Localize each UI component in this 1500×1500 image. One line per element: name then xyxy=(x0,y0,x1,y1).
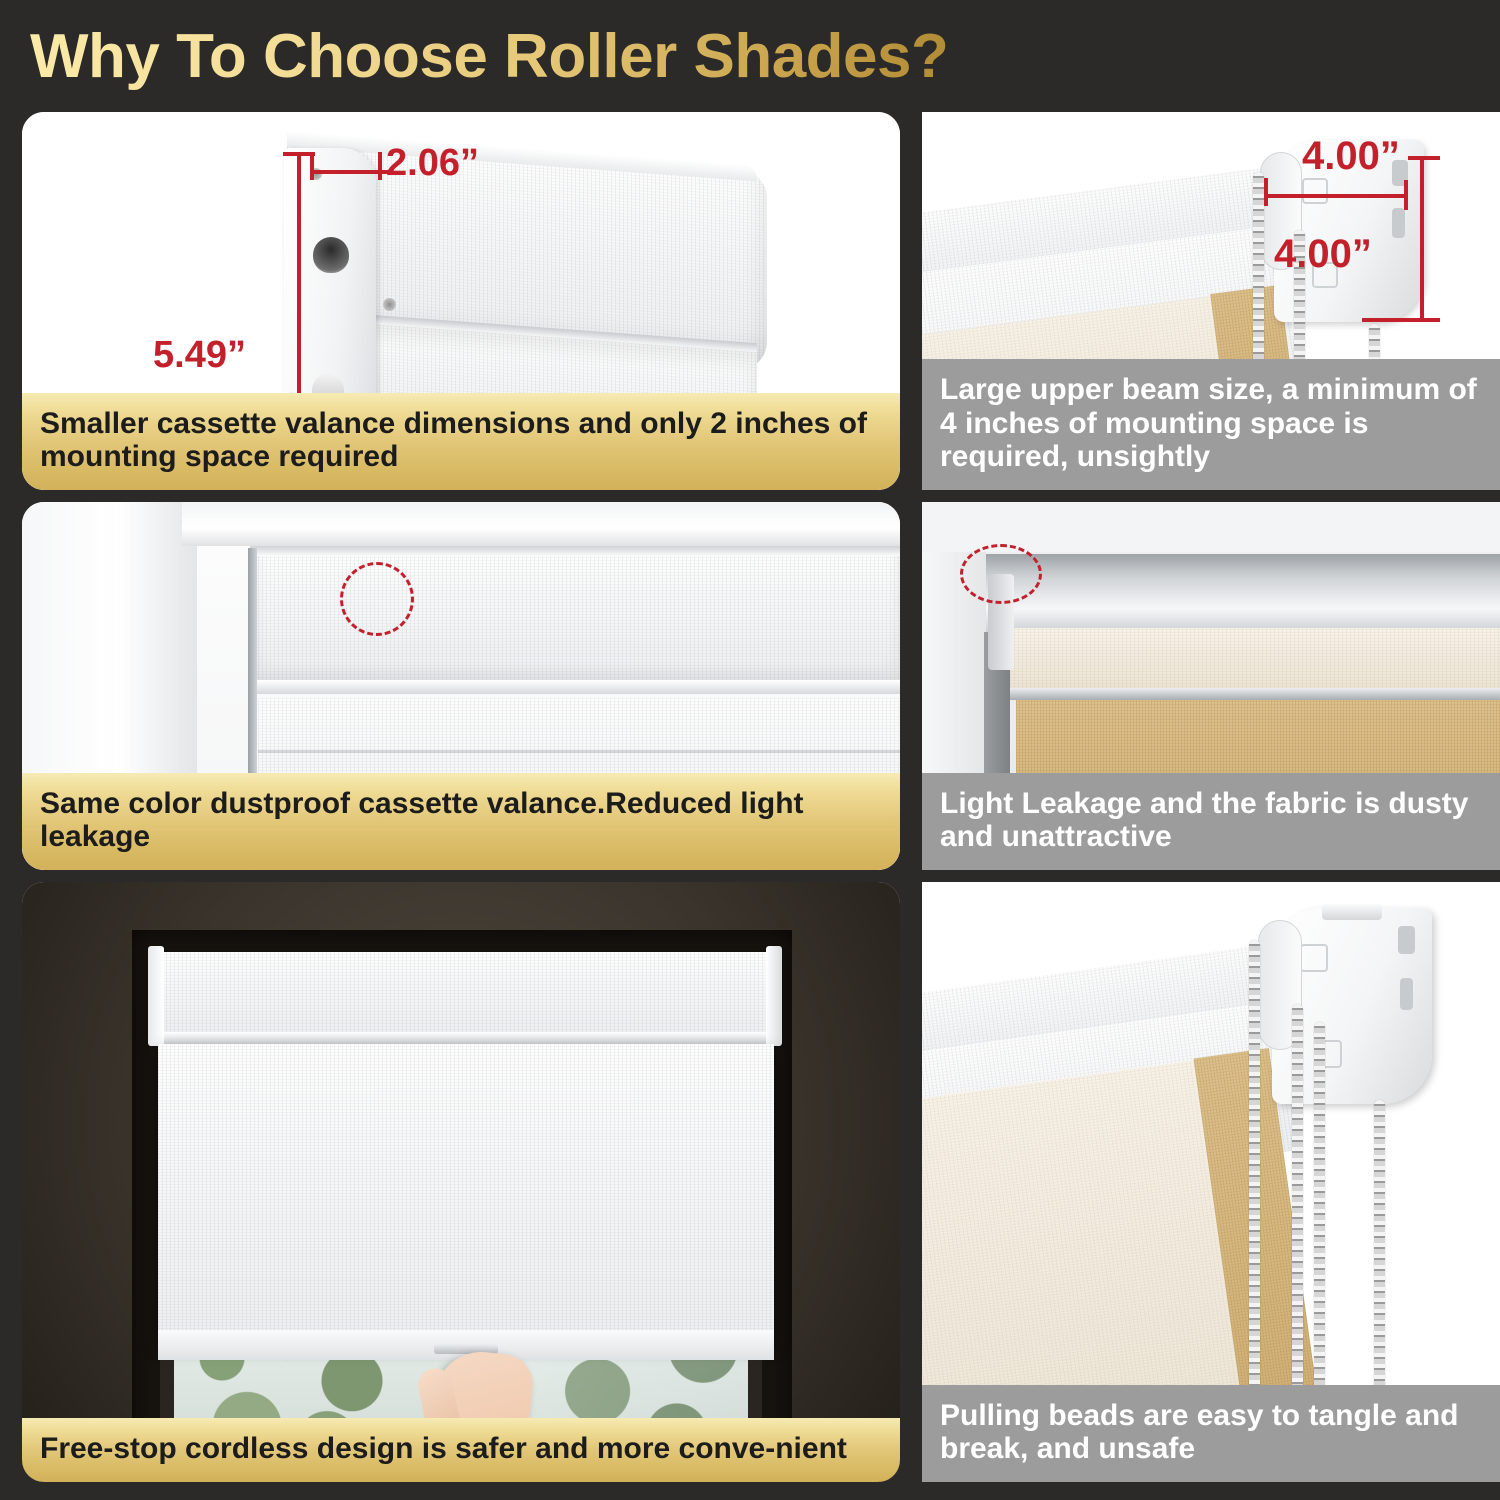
panel-3-caption: Same color dustproof cassette valance.Re… xyxy=(22,773,900,870)
rail-bottom-edge xyxy=(1006,688,1500,700)
beam-width-label: 4.00” xyxy=(1302,134,1400,179)
end-cap-screw-lower xyxy=(383,298,396,311)
comparison-grid: 2.06” 5.49” Smaller cassette valance dim… xyxy=(22,112,1478,1488)
beam-width-tick-right xyxy=(1404,180,1408,210)
bracket-mount-slot-lower xyxy=(1392,208,1405,238)
panel-smaller-cassette: 2.06” 5.49” Smaller cassette valance dim… xyxy=(22,112,900,490)
beam-width-tick-left xyxy=(1264,178,1268,206)
window-frame-top xyxy=(182,502,900,546)
end-cap-roller-slot xyxy=(313,237,349,273)
beam-height-tick-bottom xyxy=(1362,318,1440,322)
head-rail xyxy=(984,554,1500,632)
width-tick-left xyxy=(310,154,314,180)
window-shade-fabric xyxy=(158,1044,774,1344)
width-dimension-label: 2.06” xyxy=(386,142,479,185)
panel-pulling-beads: Pulling beads are easy to tangle and bre… xyxy=(922,882,1500,1482)
valance-bottom-lip xyxy=(254,680,900,694)
valance-top-lip xyxy=(250,546,900,556)
highlight-circle xyxy=(960,544,1042,604)
cassette-bracket-right xyxy=(766,946,782,1046)
bracket-logo-upper-icon xyxy=(1300,944,1328,972)
cassette-bracket-left xyxy=(148,946,164,1046)
cassette-head xyxy=(150,952,780,1036)
height-dimension-label: 5.49” xyxy=(153,334,246,377)
panel-cordless-design: Free-stop cordless design is safer and m… xyxy=(22,882,900,1482)
panel-1-caption: Smaller cassette valance dimensions and … xyxy=(22,393,900,490)
bracket-logo-upper-icon xyxy=(1302,178,1328,204)
width-tick-right xyxy=(378,152,382,180)
panel-6-caption: Pulling beads are easy to tangle and bre… xyxy=(922,1385,1500,1482)
panel-2-caption: Large upper beam size, a minimum of 4 in… xyxy=(922,359,1500,490)
beam-height-tick-top xyxy=(1408,156,1440,160)
cream-fabric-band xyxy=(1006,628,1500,690)
bracket-tab-top xyxy=(1322,904,1382,920)
beam-width-line xyxy=(1266,194,1408,198)
panel-4-caption: Light Leakage and the fabric is dusty an… xyxy=(922,773,1500,870)
bracket-mount-slot-lower xyxy=(1400,978,1413,1010)
panel-5-caption: Free-stop cordless design is safer and m… xyxy=(22,1418,900,1482)
panel-5-image xyxy=(22,882,900,1482)
panel-smaller-gap: smaller gap Same color dustproof cassett… xyxy=(22,502,900,870)
height-tick-top xyxy=(283,152,315,156)
bracket-mount-slot-upper xyxy=(1398,926,1415,954)
panel-large-upper-beam: 4.00” 4.00” Large upper beam size, a min… xyxy=(922,112,1500,490)
fabric-seam xyxy=(258,750,900,753)
panel-large-gap: Large gap Light Leakage and the fabric i… xyxy=(922,502,1500,870)
beam-height-line xyxy=(1420,156,1424,322)
highlight-circle xyxy=(340,562,414,636)
title-bar: Why To Choose Roller Shades? xyxy=(0,0,1500,112)
page-title: Why To Choose Roller Shades? xyxy=(30,21,948,92)
beam-height-label: 4.00” xyxy=(1274,232,1372,277)
